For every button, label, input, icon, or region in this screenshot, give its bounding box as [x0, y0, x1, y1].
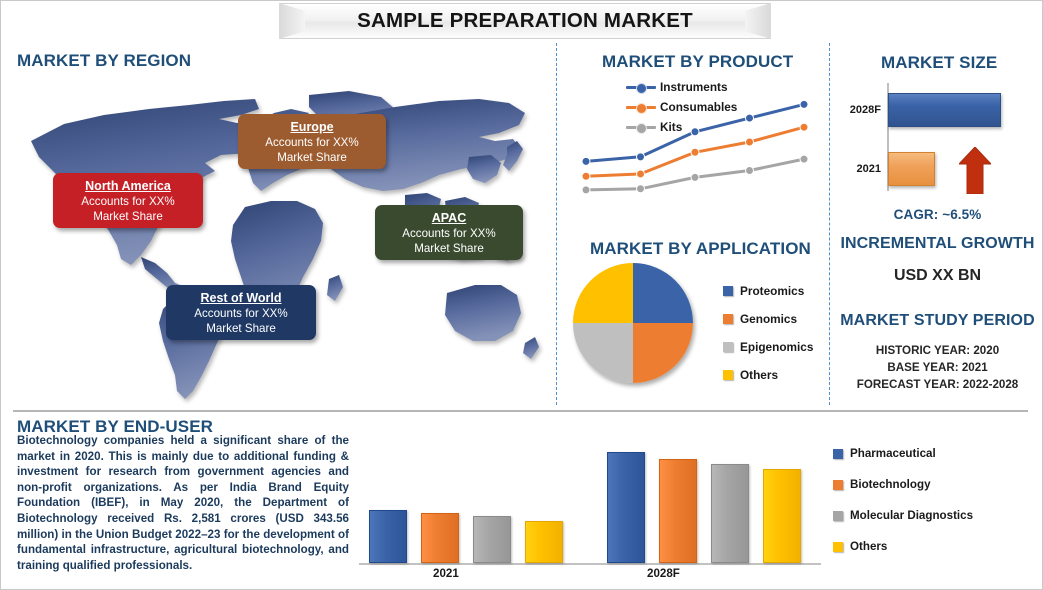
line-point [582, 172, 590, 180]
title-banner: SAMPLE PREPARATION MARKET [279, 3, 771, 39]
legend-label: Proteomics [740, 284, 804, 298]
region-name: Europe [246, 119, 378, 135]
section-title-market-size: MARKET SIZE [881, 53, 997, 73]
region-share-line1: Accounts for XX% [383, 226, 515, 241]
end-user-chart-axis [359, 563, 821, 565]
application-pie-chart [573, 263, 693, 383]
market-size-bar-2028f [888, 93, 1001, 127]
pie-legend-item-genomics[interactable]: Genomics [723, 312, 797, 326]
legend-swatch-icon [723, 286, 733, 296]
bar-2021-others [525, 521, 563, 563]
line-point [746, 167, 754, 175]
incremental-growth-title: INCREMENTAL GROWTH [831, 235, 1043, 253]
region-callout-europe[interactable]: EuropeAccounts for XX%Market Share [238, 114, 386, 169]
line-point [800, 123, 808, 131]
cagr-value: CAGR: ~6.5% [831, 207, 1043, 222]
divider-horizontal [13, 410, 1028, 412]
line-point [582, 186, 590, 194]
bar-2028f-molecular-diagnostics [711, 464, 749, 563]
region-callout-apac[interactable]: APACAccounts for XX%Market Share [375, 205, 523, 260]
line-point [691, 128, 699, 136]
region-callout-rest-of-world[interactable]: Rest of WorldAccounts for XX%Market Shar… [166, 285, 316, 340]
bar-2021-biotechnology [421, 513, 459, 563]
legend-label: Epigenomics [740, 340, 813, 354]
bar-2028f-others [763, 469, 801, 563]
line-point [637, 153, 645, 161]
pie-legend-item-proteomics[interactable]: Proteomics [723, 284, 804, 298]
legend-label: Others [740, 368, 778, 382]
end-user-legend-item-others[interactable]: Others [833, 540, 887, 553]
legend-swatch-icon [723, 342, 733, 352]
end-user-xlabel-2021: 2021 [433, 567, 459, 580]
pie-legend-item-epigenomics[interactable]: Epigenomics [723, 340, 813, 354]
legend-label: Pharmaceutical [850, 447, 936, 460]
product-line-chart [576, 75, 811, 220]
infographic-page: SAMPLE PREPARATION MARKET MARKET BY REGI… [0, 0, 1043, 590]
end-user-legend-item-biotechnology[interactable]: Biotechnology [833, 478, 931, 491]
page-title: SAMPLE PREPARATION MARKET [279, 3, 771, 39]
end-user-paragraph: Biotechnology companies held a significa… [17, 433, 349, 573]
end-user-xlabel-2028f: 2028F [647, 567, 680, 580]
region-share-line2: Market Share [383, 241, 515, 256]
bar-2021-molecular-diagnostics [473, 516, 511, 563]
end-user-legend-item-molecular-diagnostics[interactable]: Molecular Diagnostics [833, 509, 973, 522]
bar-2028f-pharmaceutical [607, 452, 645, 563]
region-share-line2: Market Share [174, 321, 308, 336]
legend-label: Biotechnology [850, 478, 931, 491]
divider-vertical-left [556, 43, 557, 405]
end-user-bar-chart [359, 441, 821, 563]
pie-legend-item-others[interactable]: Others [723, 368, 778, 382]
region-share-line1: Accounts for XX% [174, 306, 308, 321]
forecast-year: FORECAST YEAR: 2022-2028 [831, 378, 1043, 391]
region-share-line2: Market Share [61, 209, 195, 224]
divider-vertical-right [829, 43, 830, 405]
line-point [691, 148, 699, 156]
legend-swatch-icon [833, 480, 843, 490]
legend-label: Molecular Diagnostics [850, 509, 973, 522]
end-user-legend-item-pharmaceutical[interactable]: Pharmaceutical [833, 447, 936, 460]
incremental-growth-value: USD XX BN [831, 267, 1043, 285]
line-point [746, 138, 754, 146]
bar-2028f-biotechnology [659, 459, 697, 563]
line-point [691, 173, 699, 181]
market-study-period-title: MARKET STUDY PERIOD [831, 312, 1043, 330]
section-title-product: MARKET BY PRODUCT [602, 52, 793, 72]
legend-swatch-icon [723, 370, 733, 380]
section-title-application: MARKET BY APPLICATION [590, 239, 811, 259]
historic-year: HISTORIC YEAR: 2020 [831, 344, 1043, 357]
market-size-bar-2021 [888, 152, 935, 186]
legend-swatch-icon [833, 542, 843, 552]
market-size-label-2021: 2021 [837, 163, 881, 175]
line-point [800, 100, 808, 108]
legend-label: Others [850, 540, 887, 553]
line-point [637, 185, 645, 193]
line-point [582, 157, 590, 165]
region-share-line2: Market Share [246, 150, 378, 165]
legend-swatch-icon [833, 511, 843, 521]
legend-swatch-icon [723, 314, 733, 324]
section-title-region: MARKET BY REGION [17, 51, 191, 71]
bar-2021-pharmaceutical [369, 510, 407, 563]
line-point [800, 155, 808, 163]
region-name: APAC [383, 210, 515, 226]
growth-arrow-icon [959, 147, 991, 194]
region-callout-north-america[interactable]: North AmericaAccounts for XX%Market Shar… [53, 173, 203, 228]
region-name: North America [61, 178, 195, 194]
market-size-label-2028f: 2028F [837, 104, 881, 116]
region-name: Rest of World [174, 290, 308, 306]
base-year: BASE YEAR: 2021 [831, 361, 1043, 374]
legend-swatch-icon [833, 449, 843, 459]
region-share-line1: Accounts for XX% [61, 194, 195, 209]
region-share-line1: Accounts for XX% [246, 135, 378, 150]
line-point [746, 114, 754, 122]
line-point [637, 170, 645, 178]
legend-label: Genomics [740, 312, 797, 326]
